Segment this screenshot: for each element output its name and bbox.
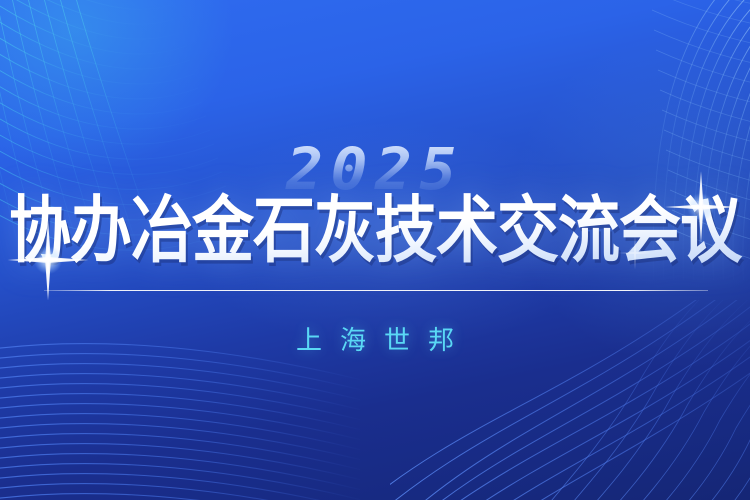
banner-subtitle: 上海世邦	[0, 320, 750, 357]
banner-title: 协办冶金石灰技术交流会议	[0, 192, 750, 270]
conference-banner: 2025 协办冶金石灰技术交流会议 上海世邦	[0, 0, 750, 500]
banner-content: 2025 协办冶金石灰技术交流会议 上海世邦	[0, 0, 750, 500]
title-divider	[44, 290, 708, 291]
